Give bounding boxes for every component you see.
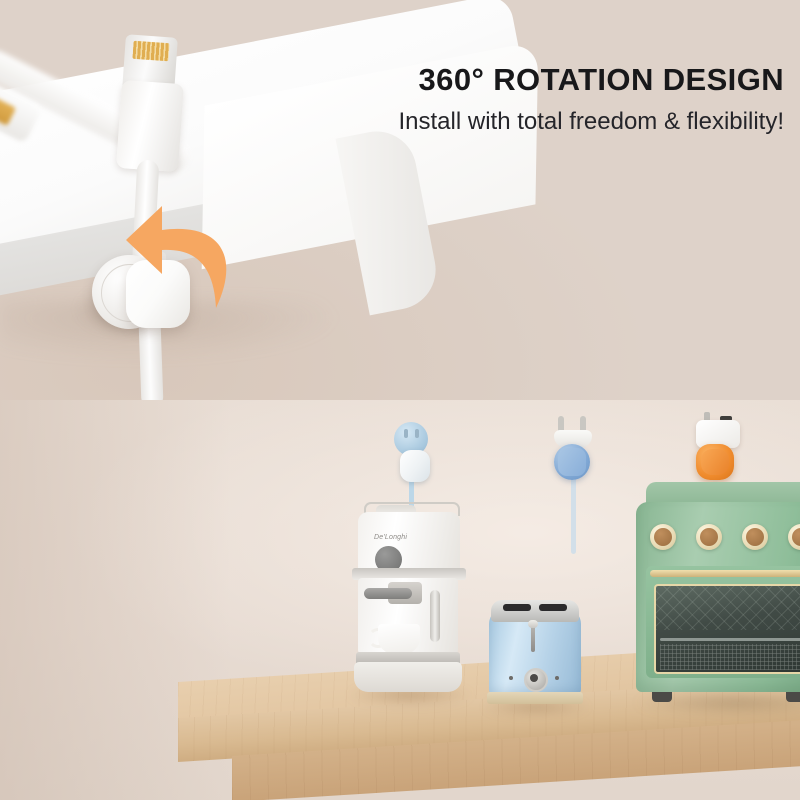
espresso-brand-label: De'Longhi [374, 534, 407, 541]
toaster-slot-left [503, 604, 531, 611]
oven-knob-3[interactable] [742, 524, 768, 550]
toaster-button-right [555, 676, 559, 680]
rotation-arrow-icon [118, 196, 248, 324]
espresso-portafilter [364, 588, 412, 599]
toaster-lever-knob [528, 620, 538, 628]
clip-hook-body [701, 449, 729, 475]
clip-prong-left [404, 429, 408, 438]
espresso-base [354, 662, 462, 692]
toaster-oven [636, 482, 800, 712]
clip-prong-right [415, 429, 419, 438]
oven-rack [660, 638, 800, 641]
espresso-machine: De'Longhi [352, 512, 466, 710]
oven-tray-mesh [660, 644, 800, 670]
clip-hook-body [558, 448, 586, 476]
toaster-button-left [509, 676, 513, 680]
panel-pull-smoothly: De'Longhi [0, 400, 800, 800]
oven-knob-2[interactable] [696, 524, 722, 550]
espresso-steam-wand [430, 590, 440, 642]
cable-clip-blue-cord [571, 468, 576, 554]
page-title-top: 360° ROTATION DESIGN [419, 62, 784, 98]
infographic-canvas: 360° ROTATION DESIGN Install with total … [0, 0, 800, 800]
toaster [487, 590, 583, 712]
toaster-dial-center [530, 674, 538, 682]
toaster-slot-right [539, 604, 567, 611]
espresso-upper-body [358, 512, 460, 572]
oven-control-panel [642, 512, 800, 560]
espresso-cup [378, 624, 420, 654]
oven-interior-texture [656, 586, 800, 630]
clip-plug-head [400, 450, 430, 482]
oven-door-handle[interactable] [650, 570, 800, 577]
connector-pins-icon [132, 41, 169, 61]
oven-knob-4[interactable] [788, 524, 800, 550]
toaster-base [487, 692, 583, 704]
oven-glass-window [654, 584, 800, 674]
oven-knob-1[interactable] [650, 524, 676, 550]
toaster-lever-track [531, 624, 535, 652]
panel-rotation-design: 360° ROTATION DESIGN Install with total … [0, 0, 800, 400]
lightning-connector-body [116, 80, 184, 172]
page-subtitle-top: Install with total freedom & flexibility… [399, 108, 785, 136]
